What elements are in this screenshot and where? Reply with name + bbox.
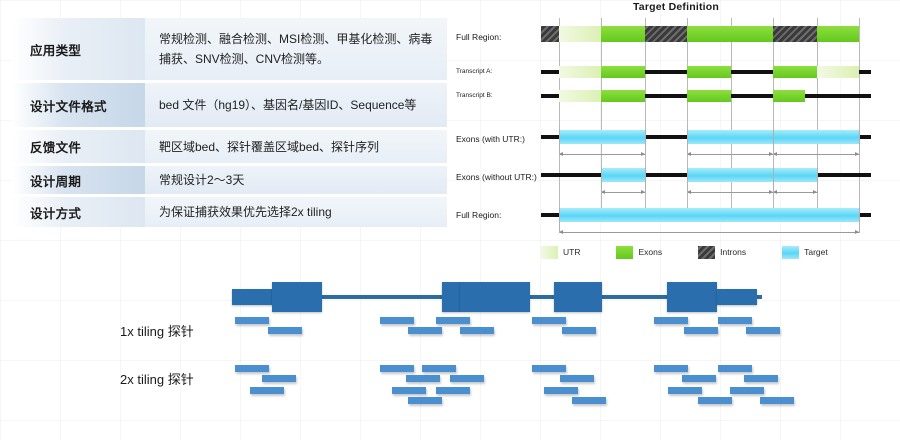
measure-bar — [601, 192, 645, 193]
probe-bar — [744, 375, 778, 382]
target-definition-legend: UTRExonsIntronsTarget — [541, 244, 871, 260]
segment-target — [601, 168, 645, 182]
gene-exon-block — [272, 282, 322, 312]
track-label: Transcript A: — [456, 68, 492, 75]
probe-bar — [436, 317, 470, 324]
gene-exon-block — [442, 282, 460, 312]
segment-utr — [559, 26, 601, 42]
spec-row-label: 设计文件格式 — [12, 83, 145, 127]
probe-bar — [408, 327, 442, 334]
segment-exon — [601, 26, 645, 42]
segment-target — [773, 130, 859, 144]
target-definition-title: Target Definition — [452, 1, 900, 13]
segment-utr — [559, 66, 601, 78]
probe-bar — [380, 317, 414, 324]
legend-item: UTR — [541, 246, 580, 259]
spec-row-value: 常规检测、融合检测、MSI检测、甲基化检测、病毒捕获、SNV检测、CNV检测等。 — [145, 18, 447, 80]
probe-bar — [532, 317, 566, 324]
segment-target — [687, 130, 773, 144]
segment-exon — [773, 90, 805, 102]
legend-item: Exons — [616, 246, 662, 259]
probe-track-2x — [232, 365, 792, 415]
tiling-row-label: 1x tiling 探针 — [120, 321, 194, 340]
measure-tick — [559, 130, 560, 155]
tiling-panel: 1x tiling 探针2x tiling 探针 — [0, 265, 900, 440]
track-target — [541, 130, 871, 144]
spec-row-label: 应用类型 — [12, 18, 145, 80]
track-label: Full Region: — [456, 210, 501, 220]
legend-swatch-exon — [616, 246, 633, 259]
probe-bar — [718, 365, 752, 372]
probe-bar — [235, 317, 269, 324]
spec-table-row: 设计方式为保证捕获效果优先选择2x tiling — [12, 197, 447, 227]
probe-track-1x — [232, 317, 792, 367]
segment-exon — [687, 90, 731, 102]
probe-bar — [532, 365, 566, 372]
segment-exon — [773, 66, 817, 78]
track-target — [541, 208, 871, 222]
probe-bar — [436, 387, 470, 394]
gene-exon-block — [667, 282, 717, 312]
probe-bar — [654, 317, 688, 324]
track-label: Exons (without UTR:) — [456, 172, 537, 182]
measure-tick — [645, 130, 646, 155]
probe-bar — [572, 397, 606, 404]
measure-tick — [559, 208, 560, 233]
legend-swatch-target — [782, 246, 799, 259]
measure-tick — [773, 168, 774, 193]
measure-tick — [687, 130, 688, 155]
spec-table-row: 反馈文件靶区域bed、探针覆盖区域bed、探针序列 — [12, 130, 447, 163]
segment-target — [559, 208, 859, 222]
probe-bar — [235, 365, 269, 372]
tiling-row-label: 2x tiling 探针 — [120, 369, 194, 388]
segment-intron — [645, 26, 687, 42]
target-definition-panel: Target Definition Full Region:Transcript… — [452, 0, 900, 270]
spec-table-row: 设计文件格式bed 文件（hg19）、基因名/基因ID、Sequence等 — [12, 83, 447, 127]
spec-table-row: 应用类型常规检测、融合检测、MSI检测、甲基化检测、病毒捕获、SNV检测、CNV… — [12, 18, 447, 80]
segment-exon — [601, 90, 645, 102]
measure-bar — [773, 154, 859, 155]
segment-target — [687, 168, 773, 182]
segment-utr — [817, 66, 859, 78]
probe-bar — [682, 375, 716, 382]
legend-item: Target — [782, 246, 828, 259]
measure-tick — [859, 130, 860, 155]
probe-bar — [250, 387, 284, 394]
probe-bar — [392, 387, 426, 394]
legend-swatch-intron — [698, 246, 715, 259]
probe-bar — [408, 397, 442, 404]
segment-target — [773, 168, 817, 182]
segment-intron — [541, 26, 559, 42]
segment-exon — [601, 66, 645, 78]
track-transcript — [541, 90, 871, 102]
probe-bar — [380, 365, 414, 372]
segment-intron — [773, 26, 817, 42]
probe-bar — [718, 317, 752, 324]
probe-bar — [544, 387, 578, 394]
spec-row-value: 为保证捕获效果优先选择2x tiling — [145, 197, 447, 227]
probe-bar — [406, 375, 440, 382]
track-label: Transcript B: — [456, 92, 493, 99]
measure-bar — [773, 192, 817, 193]
segment-exon — [817, 26, 859, 42]
probe-bar — [668, 387, 702, 394]
track-full-region-bar — [541, 26, 871, 42]
probe-bar — [654, 365, 688, 372]
track-target — [541, 168, 871, 182]
legend-label: Target — [804, 247, 828, 257]
probe-bar — [760, 397, 794, 404]
measure-tick — [859, 208, 860, 233]
probe-bar — [262, 375, 296, 382]
legend-label: Exons — [638, 247, 662, 257]
spec-row-value: 靶区域bed、探针覆盖区域bed、探针序列 — [145, 130, 447, 163]
gene-exon-block — [460, 282, 530, 312]
probe-bar — [560, 375, 594, 382]
measure-tick — [817, 168, 818, 193]
probe-bar — [450, 375, 484, 382]
gene-exon-block — [717, 289, 757, 305]
probe-bar — [684, 327, 718, 334]
segment-utr — [559, 90, 601, 102]
target-definition-plot — [541, 18, 871, 223]
spec-row-value: bed 文件（hg19）、基因名/基因ID、Sequence等 — [145, 83, 447, 127]
measure-tick — [687, 168, 688, 193]
track-transcript — [541, 66, 871, 78]
measure-bar — [687, 154, 773, 155]
spec-row-label: 反馈文件 — [12, 130, 145, 163]
probe-bar — [422, 365, 456, 372]
segment-exon — [687, 66, 731, 78]
spec-row-label: 设计周期 — [12, 166, 145, 194]
measure-bar — [559, 154, 645, 155]
probe-bar — [460, 327, 494, 334]
probe-bar — [730, 387, 764, 394]
legend-label: Introns — [720, 247, 746, 257]
measure-bar — [559, 232, 859, 233]
legend-label: UTR — [563, 247, 580, 257]
spec-table-row: 设计周期常规设计2～3天 — [12, 166, 447, 194]
measure-bar — [687, 192, 773, 193]
probe-bar — [746, 327, 780, 334]
segment-exon — [687, 26, 773, 42]
probe-bar — [268, 327, 302, 334]
track-label: Exons (with UTR:) — [456, 134, 525, 144]
legend-swatch-utr — [541, 246, 558, 259]
spec-row-label: 设计方式 — [12, 197, 145, 227]
spec-row-value: 常规设计2～3天 — [145, 166, 447, 194]
measure-tick — [773, 130, 774, 155]
gene-exon-block — [554, 282, 602, 312]
gene-model-diagram — [232, 279, 762, 315]
segment-target — [559, 130, 645, 144]
probe-bar — [698, 397, 732, 404]
specification-table: 应用类型常规检测、融合检测、MSI检测、甲基化检测、病毒捕获、SNV检测、CNV… — [12, 18, 447, 227]
track-label: Full Region: — [456, 32, 501, 42]
measure-tick — [601, 168, 602, 193]
measure-tick — [645, 168, 646, 193]
probe-bar — [562, 327, 596, 334]
legend-item: Introns — [698, 246, 746, 259]
